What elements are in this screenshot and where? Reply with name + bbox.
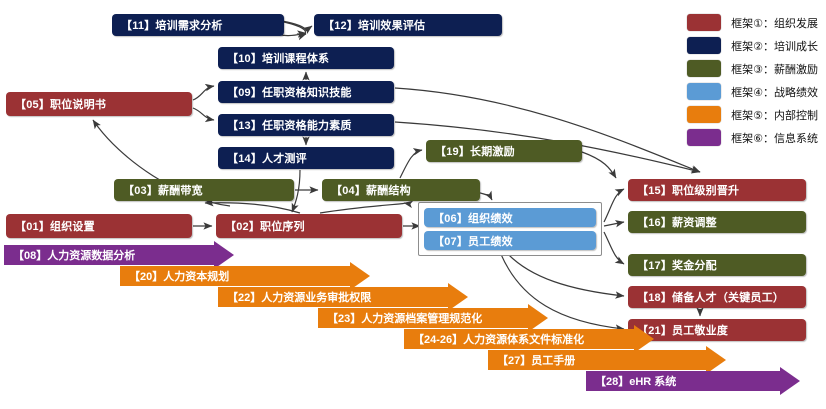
node-n18[interactable]: 【18】储备人才（关键员工）: [628, 286, 806, 308]
legend-item-olive: 框架③：薪酬激励: [687, 58, 818, 79]
node-n10[interactable]: 【10】培训课程体系: [218, 47, 394, 69]
node-label: 【09】任职资格知识技能: [227, 84, 352, 100]
diagram-canvas: 【11】培训需求分析【12】培训效果评估【10】培训课程体系【09】任职资格知识…: [0, 0, 826, 409]
banner-b20[interactable]: 【20】人力资本规划: [120, 266, 370, 286]
legend: 框架①：组织发展框架②：培训成长框架③：薪酬激励框架④：战略绩效框架⑤：内部控制…: [687, 12, 818, 150]
node-label: 【07】员工绩效: [433, 233, 513, 249]
node-label: 【13】任职资格能力素质: [227, 117, 352, 133]
node-n19[interactable]: 【19】长期激励: [426, 140, 582, 162]
node-n12[interactable]: 【12】培训效果评估: [314, 14, 502, 36]
banner-b08[interactable]: 【08】人力资源数据分析: [4, 245, 234, 265]
node-n04[interactable]: 【04】薪酬结构: [322, 179, 480, 201]
legend-label: 框架⑤：内部控制: [731, 107, 818, 123]
node-label: 【14】人才测评: [227, 150, 307, 166]
arrow-head-icon: [350, 262, 370, 290]
banner-b23[interactable]: 【23】人力资源档案管理规范化: [318, 308, 548, 328]
banner-b2426[interactable]: 【24-26】人力资源体系文件标准化: [404, 329, 654, 349]
node-label: 【05】职位说明书: [15, 96, 106, 112]
banner-b28[interactable]: 【28】eHR 系统: [586, 371, 800, 391]
banner-label: 【22】人力资源业务审批权限: [218, 287, 448, 307]
legend-item-navy: 框架②：培训成长: [687, 35, 818, 56]
legend-item-orange: 框架⑤：内部控制: [687, 104, 818, 125]
node-n09[interactable]: 【09】任职资格知识技能: [218, 81, 394, 103]
node-label: 【01】组织设置: [15, 218, 95, 234]
banner-label: 【28】eHR 系统: [586, 371, 780, 391]
legend-item-purple: 框架⑥：信息系统: [687, 127, 818, 148]
node-label: 【03】薪酬带宽: [123, 182, 203, 198]
node-n01[interactable]: 【01】组织设置: [6, 214, 192, 238]
node-label: 【12】培训效果评估: [323, 17, 425, 33]
banner-b22[interactable]: 【22】人力资源业务审批权限: [218, 287, 468, 307]
banner-label: 【20】人力资本规划: [120, 266, 350, 286]
banner-label: 【23】人力资源档案管理规范化: [318, 308, 528, 328]
banner-b27[interactable]: 【27】员工手册: [488, 350, 726, 370]
node-label: 【16】薪资调整: [637, 214, 717, 230]
node-n05[interactable]: 【05】职位说明书: [6, 92, 192, 116]
banner-label: 【27】员工手册: [488, 350, 706, 370]
arrow-head-icon: [214, 241, 234, 269]
node-n14[interactable]: 【14】人才测评: [218, 147, 394, 169]
node-label: 【11】培训需求分析: [121, 17, 223, 33]
node-label: 【17】奖金分配: [637, 257, 717, 273]
legend-label: 框架①：组织发展: [731, 15, 818, 31]
node-n07[interactable]: 【07】员工绩效: [424, 231, 596, 250]
legend-swatch-icon: [687, 60, 721, 77]
node-n21[interactable]: 【21】员工敬业度: [628, 319, 806, 341]
node-n16[interactable]: 【16】薪资调整: [628, 211, 806, 233]
node-n06[interactable]: 【06】组织绩效: [424, 208, 596, 227]
legend-item-blue: 框架④：战略绩效: [687, 81, 818, 102]
legend-swatch-icon: [687, 37, 721, 54]
node-n15[interactable]: 【15】职位级别晋升: [628, 179, 806, 201]
legend-swatch-icon: [687, 129, 721, 146]
legend-label: 框架④：战略绩效: [731, 84, 818, 100]
node-label: 【19】长期激励: [435, 143, 515, 159]
legend-swatch-icon: [687, 106, 721, 123]
legend-label: 框架⑥：信息系统: [731, 130, 818, 146]
node-n13[interactable]: 【13】任职资格能力素质: [218, 114, 394, 136]
node-label: 【18】储备人才（关键员工）: [637, 289, 784, 305]
node-label: 【15】职位级别晋升: [637, 182, 739, 198]
legend-item-red: 框架①：组织发展: [687, 12, 818, 33]
banner-label: 【24-26】人力资源体系文件标准化: [404, 329, 634, 349]
node-label: 【04】薪酬结构: [331, 182, 411, 198]
node-n03[interactable]: 【03】薪酬带宽: [114, 179, 294, 201]
node-n11[interactable]: 【11】培训需求分析: [112, 14, 284, 36]
node-n17[interactable]: 【17】奖金分配: [628, 254, 806, 276]
node-label: 【10】培训课程体系: [227, 50, 329, 66]
banner-label: 【08】人力资源数据分析: [4, 245, 214, 265]
node-label: 【06】组织绩效: [433, 210, 513, 226]
node-label: 【02】职位序列: [225, 218, 305, 234]
legend-label: 框架②：培训成长: [731, 38, 818, 54]
arrow-head-icon: [780, 367, 800, 395]
arrow-head-icon: [706, 346, 726, 374]
legend-label: 框架③：薪酬激励: [731, 61, 818, 77]
node-n02[interactable]: 【02】职位序列: [216, 214, 402, 238]
legend-swatch-icon: [687, 83, 721, 100]
arrow-head-icon: [448, 283, 468, 311]
legend-swatch-icon: [687, 14, 721, 31]
arrow-head-icon: [634, 325, 654, 353]
arrow-head-icon: [528, 304, 548, 332]
